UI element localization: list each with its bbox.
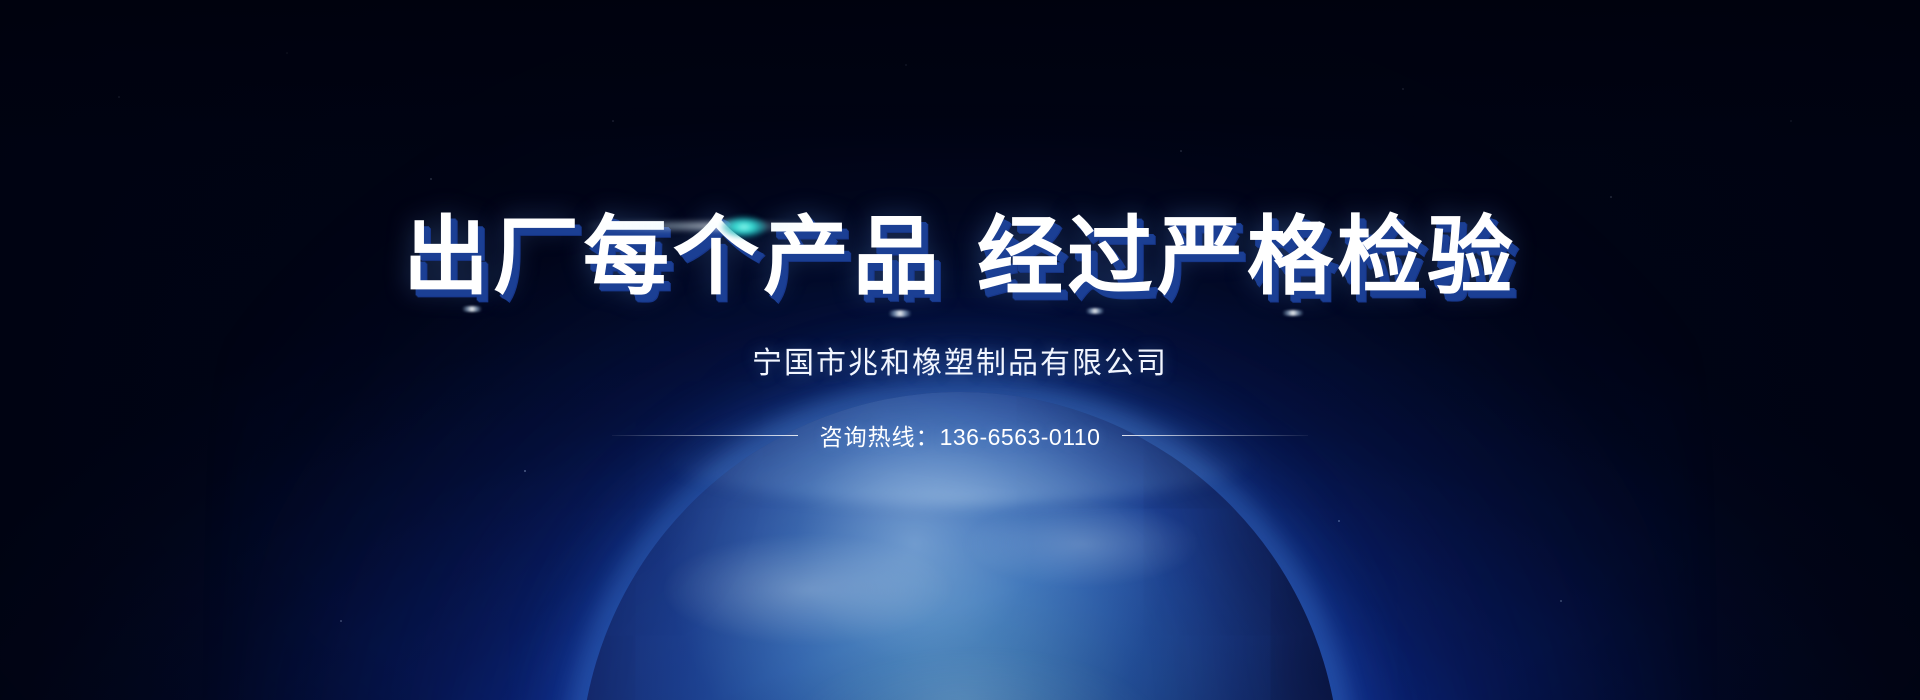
divider-line-right xyxy=(1122,435,1308,436)
hotline-text: 咨询热线：136-6563-0110 xyxy=(820,418,1101,452)
divider-line-left xyxy=(612,435,798,436)
hero-banner: 出厂每个产品经过严格检验 宁国市兆和橡塑制品有限公司 咨询热线：136-6563… xyxy=(0,0,1920,700)
hotline-label: 咨询热线： xyxy=(820,424,940,450)
sparkle-icon xyxy=(459,306,485,312)
headline-part-2: 经过严格检验 xyxy=(977,209,1517,305)
hotline-row: 咨询热线：136-6563-0110 xyxy=(612,418,1309,452)
headline-part-1: 出厂每个产品 xyxy=(403,209,943,305)
hotline-number: 136-6563-0110 xyxy=(940,424,1101,450)
company-name: 宁国市兆和橡塑制品有限公司 xyxy=(752,338,1168,382)
sparkle-icon xyxy=(885,310,915,317)
banner-content: 出厂每个产品经过严格检验 宁国市兆和橡塑制品有限公司 咨询热线：136-6563… xyxy=(0,0,1920,700)
headline: 出厂每个产品经过严格检验 xyxy=(403,214,1517,300)
sparkle-icon xyxy=(1083,308,1107,314)
sparkle-icon xyxy=(1279,310,1307,316)
